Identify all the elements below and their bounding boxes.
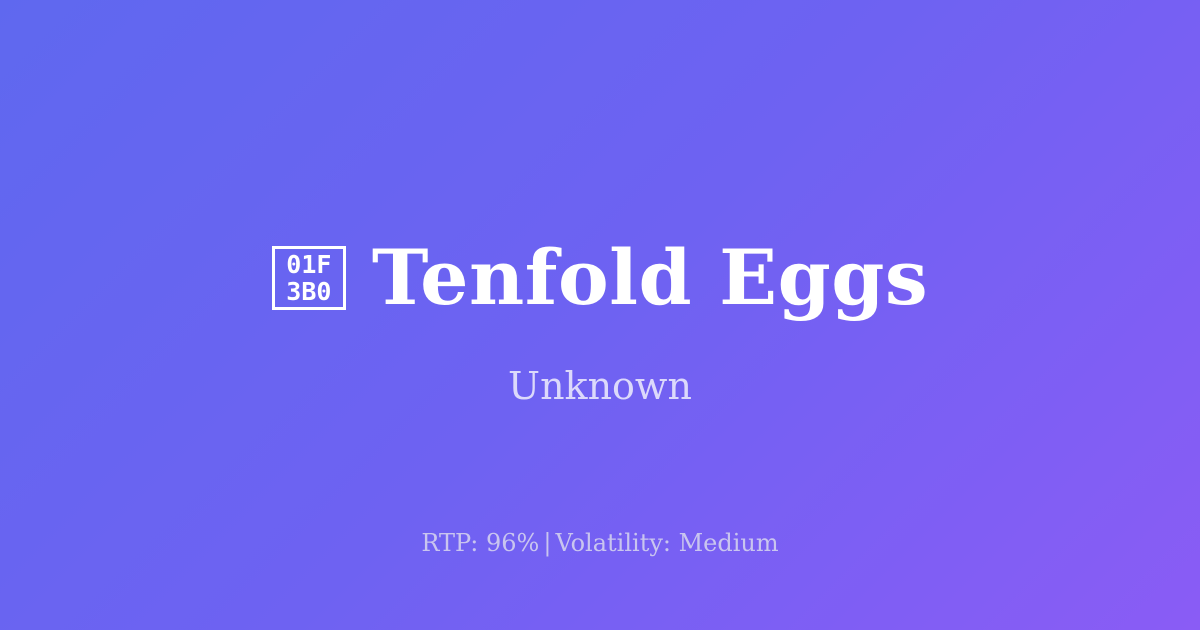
rtp-label: RTP: 96% — [421, 529, 539, 557]
game-meta: RTP: 96%|Volatility: Medium — [0, 528, 1200, 558]
game-preview-card: 01F 3B0 Tenfold Eggs Unknown RTP: 96%|Vo… — [0, 0, 1200, 630]
tofu-codepoint-bottom: 3B0 — [286, 278, 331, 305]
provider-label: Unknown — [0, 362, 1200, 410]
slot-machine-tofu-icon: 01F 3B0 — [272, 246, 346, 310]
tofu-codepoint-top: 01F — [286, 251, 331, 278]
game-title: Tenfold Eggs — [372, 236, 928, 320]
volatility-label: Volatility: Medium — [555, 529, 778, 557]
meta-separator: | — [539, 529, 555, 557]
title-row: 01F 3B0 Tenfold Eggs — [0, 232, 1200, 324]
